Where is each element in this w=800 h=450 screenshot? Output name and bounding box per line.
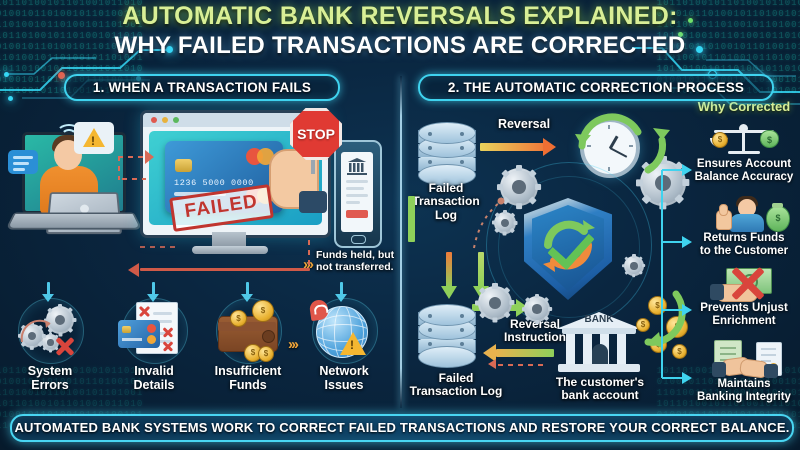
gear-tooth [510,213,515,218]
return-flow-bar [140,268,310,271]
instruction-arrow-bar [496,349,554,357]
infographic-canvas: 10110100101101001011010 0100101101001011… [0,0,800,450]
gear-icon [624,256,644,276]
flow-dash [122,178,146,180]
dotted-flow-path [468,196,508,252]
title-line-2: WHY FAILED TRANSACTIONS ARE CORRECTED [0,32,800,60]
failure-label-line-1: System [2,364,98,378]
benefit-line-2: to the Customer [688,245,800,258]
failure-label: Insufficient Funds [200,364,296,392]
wallet-coins-icon: $ $ $ $ [200,300,296,362]
gear-tooth [509,300,514,305]
gear-tooth [516,165,522,171]
warning-triangle-icon [83,128,105,147]
benefit-line-2: Enrichment [688,315,800,328]
gear-tooth [47,307,53,313]
bank-sign: BANK [572,314,626,326]
benefit-label: Maintains Banking Integrity [688,378,800,404]
benefit-line-2: Banking Integrity [688,391,800,404]
gear-tooth [501,169,510,178]
benefit-line-1: Ensures Account [688,158,800,171]
gear-tooth [535,320,539,324]
bank-base [558,364,640,372]
warning-bubble [74,122,114,154]
benefit-returns-funds-to-customer: $ Returns Funds to the Customer [688,194,800,258]
gear-tooth [632,254,635,257]
section-heading-when-transaction-fails: 1. WHEN A TRANSACTION FAILS [64,74,340,101]
warning-triangle-icon [340,332,366,355]
flow-dash [140,246,178,248]
benefit-prevents-unjust-enrichment: Prevents Unjust Enrichment [688,264,800,328]
failure-label-line-2: Details [106,378,202,392]
window-maximize-dot [173,117,179,123]
circuit-node-alert [58,72,65,79]
failure-card-network-issues: Network Issues [296,300,392,392]
flow-dash-arrow [488,359,496,369]
failure-label-line-1: Invalid [106,364,202,378]
gear-icon [478,286,512,320]
gear-tooth [525,297,531,303]
phone-text-line [346,187,364,190]
balance-scales-icon: $ $ [688,120,800,158]
failure-card-insufficient-funds: $ $ $ $ Insufficient Funds [200,300,296,392]
failure-label: Network Issues [296,364,392,392]
section-heading-automatic-correction-process: 2. THE AUTOMATIC CORRECTION PROCESS [418,74,774,101]
customer-refund-icon: $ [688,194,800,232]
return-flow-arrow [128,263,139,277]
flow-dash [308,240,310,270]
gear-tooth [625,257,630,262]
gear-icon [524,296,550,322]
failure-label: Invalid Details [106,364,202,392]
reversal-arrow-bar [480,143,544,151]
failure-label-line-1: Insufficient [200,364,296,378]
log-label-line-2: Transaction Log [398,385,514,398]
benefit-label: Ensures Account Balance Accuracy [688,158,800,184]
gear-tooth [492,283,497,288]
person-at-laptop-illustration [8,118,138,268]
gear-tooth [492,317,497,322]
gear-tooth [58,304,62,308]
phone-body [334,140,382,248]
funds-note-line-2: not transferred. [316,262,408,274]
globe-warning-icon [296,300,392,362]
phone-text-line [346,180,368,183]
gear-tooth [622,264,625,267]
invalid-document-icon [106,300,202,362]
monitor-foot [192,246,268,254]
cash-blocked-icon [688,264,800,302]
customer-bank-account-label: The customer's bank account [540,376,660,403]
gear-tooth [497,184,503,190]
why-corrected-heading: Why Corrected [688,100,800,115]
funds-note-line-1: Funds held, but [316,250,408,262]
section-divider [400,76,402,408]
left-vertical-flow [408,196,415,242]
phone-screen [341,152,373,232]
laptop-base [5,213,142,230]
funds-held-note: Funds held, but not transferred. [316,250,408,274]
failed-transaction-log-top-icon [418,118,474,180]
window-minimize-dot [162,117,168,123]
gear-tooth [535,294,539,298]
benefit-label: Returns Funds to the Customer [688,232,800,258]
benefit-line-1: Prevents Unjust [688,302,800,315]
benefit-maintains-banking-integrity: Maintains Banking Integrity [688,340,800,404]
failed-transaction-log-bottom-icon [418,300,474,362]
gear-tooth [514,221,518,225]
card-graphic [118,320,160,348]
benefit-line-2: Balance Accuracy [688,171,800,184]
reversal-arrow-head [543,138,556,156]
title-line-1: AUTOMATIC BANK REVERSALS EXPLAINED: [0,2,800,31]
failure-label-line-1: Network [296,364,392,378]
benefit-label: Prevents Unjust Enrichment [688,302,800,328]
card-chip-icon [175,159,192,172]
failure-label-line-2: Errors [2,378,98,392]
gear-tooth [522,307,526,311]
failure-label: System Errors [2,364,98,392]
gear-tooth [479,311,487,319]
flow-arrow [145,150,154,164]
bank-building-icon [347,158,367,175]
gear-tooth [548,307,552,311]
monitor-failed-payment-illustration: 1236 5000 0000 FAILED STOP [140,110,325,260]
shirt-cuff [299,191,327,213]
title-block: AUTOMATIC BANK REVERSALS EXPLAINED: WHY … [0,2,800,60]
bank-account-line-2: bank account [540,389,660,402]
chat-bubble-icon [8,150,38,174]
gear-tooth [535,184,541,190]
bank-door [592,344,608,364]
flow-dash [498,364,546,366]
benefit-line-1: Maintains [688,378,800,391]
window-close-dot [151,117,157,123]
benefit-connector-bracket [660,130,694,400]
monitor-stand [212,232,246,247]
gear-tooth [475,300,480,305]
handshake-contract-icon [688,340,800,378]
circuit-node [8,96,13,101]
phone-home-button [351,235,366,244]
wallet-clasp [262,330,275,343]
phone-text-line [346,194,368,197]
failed-transaction-log-bottom-label: Failed Transaction Log [398,372,514,399]
gear-tooth [516,203,522,209]
gear-tooth [642,194,652,204]
flow-dash [118,156,120,180]
benefit-ensures-account-balance-accuracy: $ $ Ensures Account Balance Accuracy [688,120,800,184]
phone-text-line [346,201,360,204]
gear-tooth [72,318,76,322]
card-number: 1236 5000 0000 [174,178,254,188]
reversal-arrow-label: Reversal [484,117,564,131]
bottom-banner: AUTOMATED BANK SYSTEMS WORK TO CORRECT F… [10,414,794,442]
phone-action-button [346,210,368,218]
mobile-banking-phone-illustration [334,140,378,244]
gears-error-icon [2,300,98,362]
gear-tooth [479,287,487,295]
failure-label-line-2: Funds [200,378,296,392]
benefit-line-1: Returns Funds [688,232,800,245]
flow-dash [118,156,146,158]
failure-label-line-2: Issues [296,378,392,392]
failure-card-system-errors: System Errors [2,300,98,392]
failure-card-invalid-details: Invalid Details [106,300,202,392]
circuit-node [4,72,9,77]
